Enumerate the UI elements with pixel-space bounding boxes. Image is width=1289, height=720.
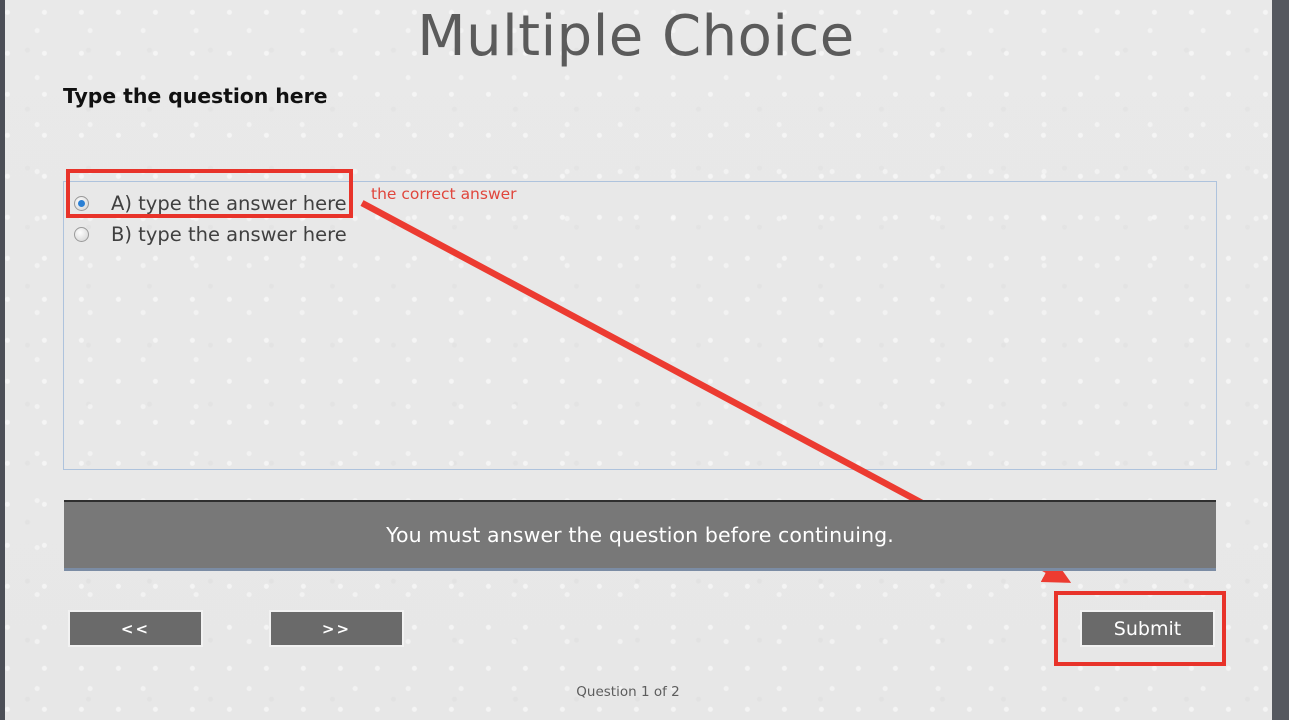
window-left-edge	[0, 0, 5, 720]
choice-label-b: B) type the answer here	[111, 223, 347, 246]
radio-button-a-icon[interactable]	[74, 196, 89, 211]
choice-label-a: A) type the answer here	[111, 192, 347, 215]
question-prompt: Type the question here	[63, 84, 327, 108]
slide-canvas: Multiple Choice Type the question here A…	[0, 0, 1289, 720]
previous-button[interactable]: <<	[68, 610, 203, 647]
annotation-label-correct-answer: the correct answer	[371, 185, 517, 203]
submit-button[interactable]: Submit	[1080, 610, 1215, 647]
question-counter: Question 1 of 2	[0, 684, 1256, 700]
validation-message-text: You must answer the question before cont…	[386, 523, 894, 547]
radio-button-b-icon[interactable]	[74, 227, 89, 242]
choice-row-b[interactable]: B) type the answer here	[69, 219, 569, 250]
next-button[interactable]: >>	[269, 610, 404, 647]
window-right-scrollbar[interactable]	[1272, 0, 1289, 720]
page-title: Multiple Choice	[0, 2, 1272, 72]
answer-choices-panel: A) type the answer here B) type the answ…	[63, 181, 1217, 470]
validation-message-bar: You must answer the question before cont…	[64, 500, 1216, 571]
